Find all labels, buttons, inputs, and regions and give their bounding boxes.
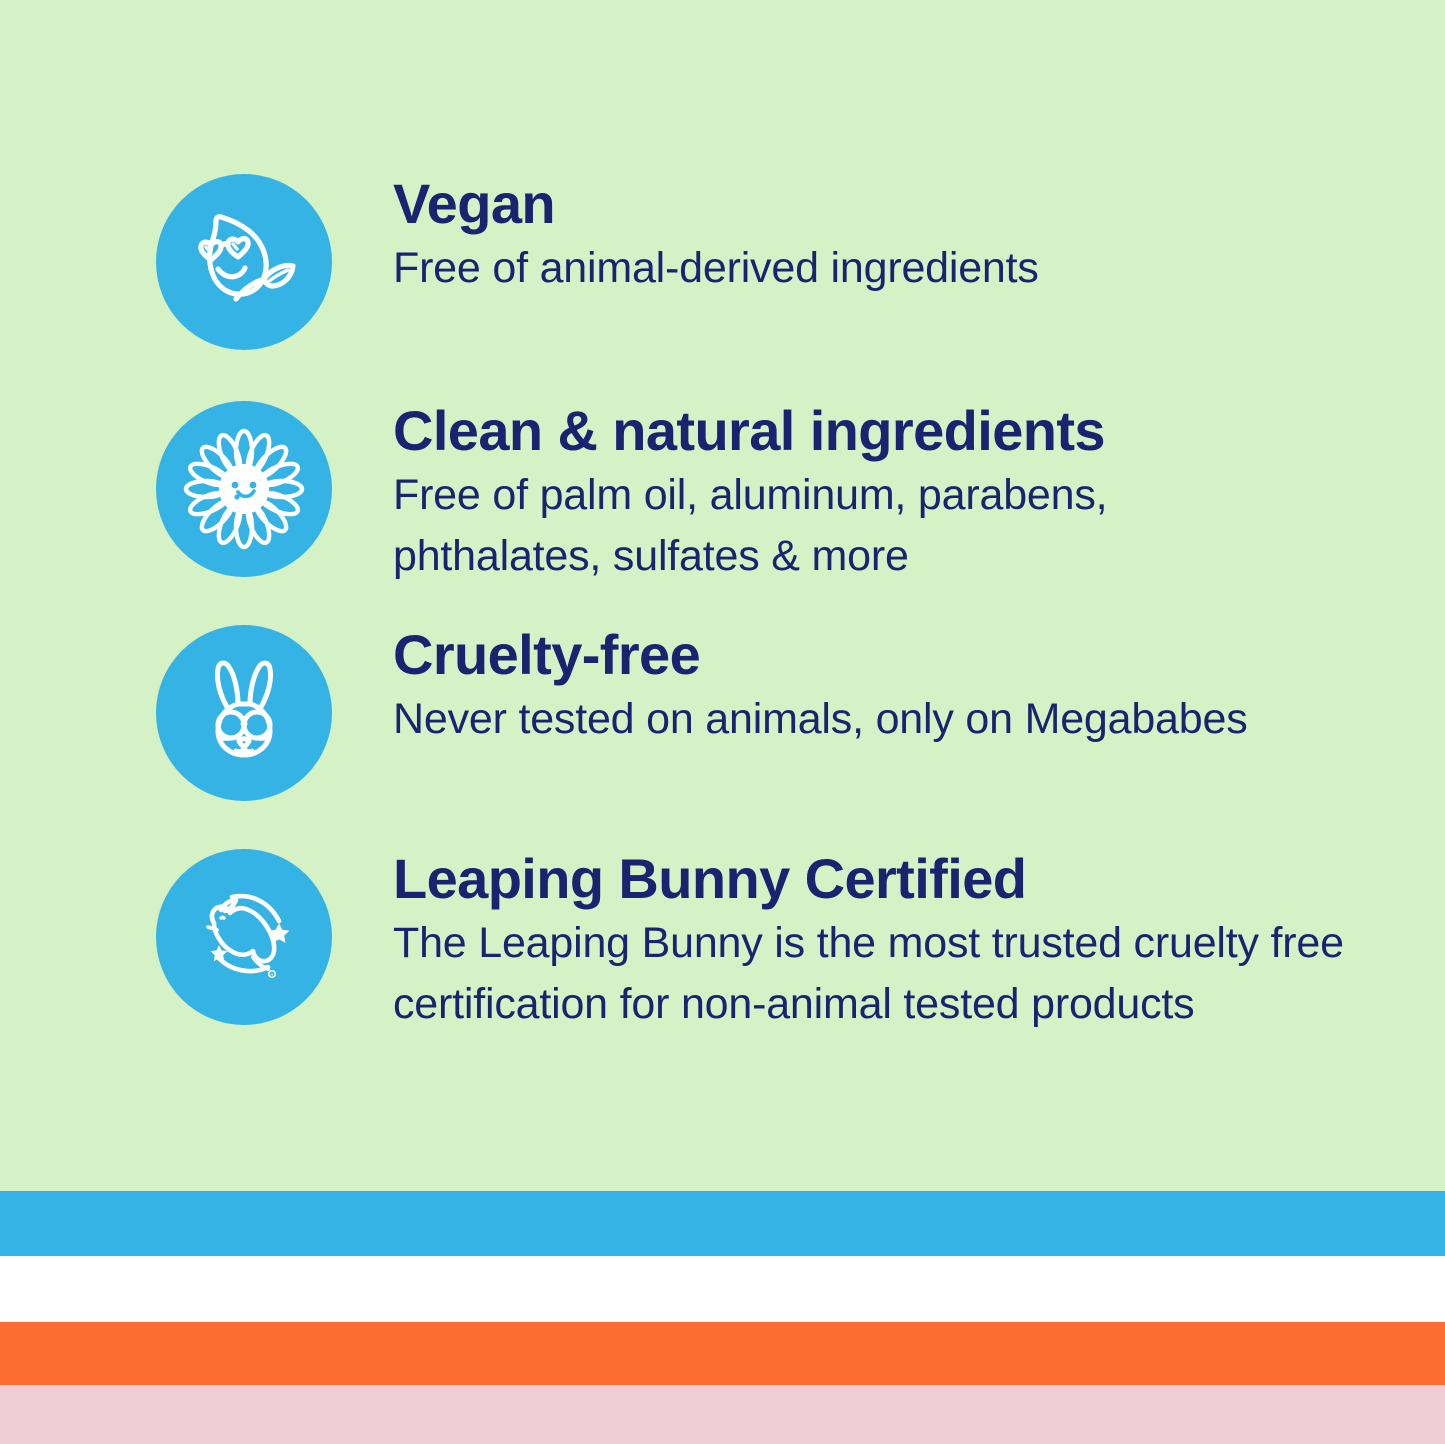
feature-description: Free of animal-derived ingredients xyxy=(393,238,1323,299)
footer-band-pink xyxy=(0,1385,1445,1444)
cruelty-free-icon-badge xyxy=(156,625,332,801)
feature-item-clean-natural-ingredients: Clean & natural ingredients Free of palm… xyxy=(156,401,1416,587)
footer-band-orange xyxy=(0,1322,1445,1385)
svg-text:R: R xyxy=(270,972,273,977)
feature-title: Leaping Bunny Certified xyxy=(393,849,1416,909)
vegan-text-block: Vegan Free of animal-derived ingredients xyxy=(332,174,1416,299)
seed-sunglasses-leaf-icon xyxy=(180,198,308,326)
smiling-daisy-icon xyxy=(180,425,308,553)
feature-title: Cruelty-free xyxy=(393,625,1416,685)
leaping-bunny-icon-badge: R xyxy=(156,849,332,1025)
leaping-bunny-logo-icon: R xyxy=(180,873,308,1001)
bunny-face-glasses-icon xyxy=(180,649,308,777)
feature-title: Clean & natural ingredients xyxy=(393,401,1416,461)
feature-item-vegan: Vegan Free of animal-derived ingredients xyxy=(156,174,1416,350)
feature-item-cruelty-free: Cruelty-free Never tested on animals, on… xyxy=(156,625,1416,801)
feature-list: Vegan Free of animal-derived ingredients xyxy=(0,0,1445,1191)
footer-band-blue xyxy=(0,1191,1445,1256)
clean-ingredients-icon-badge xyxy=(156,401,332,577)
benefits-graphic: Vegan Free of animal-derived ingredients xyxy=(0,0,1445,1444)
feature-description: Free of palm oil, aluminum, parabens, ph… xyxy=(393,465,1323,587)
footer-band-white xyxy=(0,1256,1445,1322)
clean-ingredients-text-block: Clean & natural ingredients Free of palm… xyxy=(332,401,1416,587)
leaping-bunny-text-block: Leaping Bunny Certified The Leaping Bunn… xyxy=(332,849,1416,1035)
feature-title: Vegan xyxy=(393,174,1416,234)
feature-description: The Leaping Bunny is the most trusted cr… xyxy=(393,913,1353,1035)
cruelty-free-text-block: Cruelty-free Never tested on animals, on… xyxy=(332,625,1416,750)
feature-description: Never tested on animals, only on Megabab… xyxy=(393,689,1353,750)
feature-item-leaping-bunny-certified: R Leaping Bunny Certified The Leaping Bu… xyxy=(156,849,1416,1035)
vegan-icon-badge xyxy=(156,174,332,350)
